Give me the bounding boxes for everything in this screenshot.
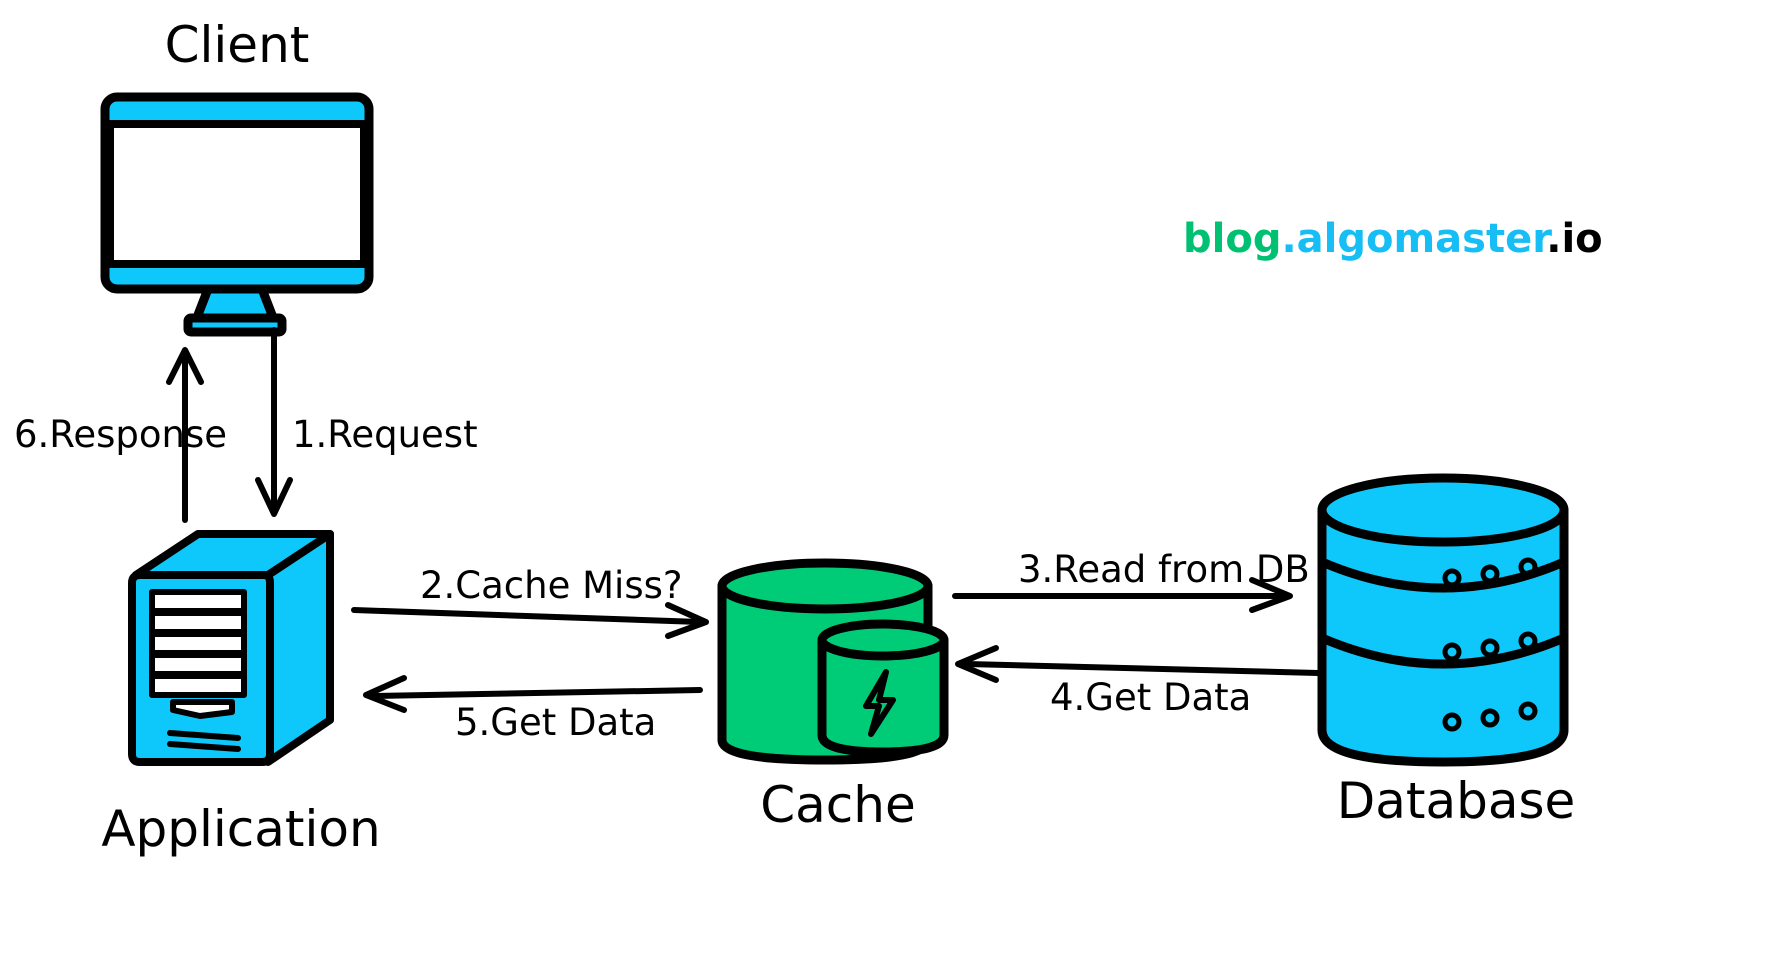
- edge-response: 6.Response: [14, 350, 227, 520]
- database-icon: [1322, 478, 1564, 762]
- edge-label-cache-miss: 2.Cache Miss?: [420, 564, 683, 607]
- edge-request: 1.Request: [258, 330, 478, 514]
- cache-aside-diagram: Client 6.Response 1.Request: [0, 0, 1774, 978]
- database-top: [1322, 478, 1564, 542]
- watermark-part-blog: blog: [1183, 216, 1281, 262]
- cache-cylinder-small-top: [822, 624, 944, 656]
- edge-get-data-cache: 5.Get Data: [366, 678, 700, 744]
- cachemiss-arrow-line: [354, 610, 700, 622]
- getdata-cache-arrow-line: [375, 690, 700, 696]
- edge-label-get-data-db: 4.Get Data: [1050, 676, 1251, 719]
- cache-node[interactable]: Cache: [722, 563, 944, 834]
- server-bay-5: [152, 676, 244, 695]
- cache-label: Cache: [760, 776, 916, 834]
- edge-label-response: 6.Response: [14, 413, 227, 456]
- watermark-dot-1: .: [1281, 216, 1296, 262]
- edge-label-request: 1.Request: [292, 413, 478, 456]
- watermark-dot-2: .: [1546, 216, 1561, 262]
- diagram-canvas: Client 6.Response 1.Request: [0, 0, 1774, 978]
- server-bay-3: [152, 634, 244, 653]
- watermark-part-io: io: [1561, 216, 1602, 262]
- edge-cache-miss: 2.Cache Miss?: [354, 564, 706, 636]
- watermark-part-algomaster: algomaster: [1297, 216, 1553, 262]
- client-node[interactable]: Client: [105, 16, 369, 332]
- cache-cylinder-large-top: [722, 563, 928, 609]
- server-tray: [173, 702, 232, 716]
- watermark: blog.algomaster.io: [1183, 216, 1603, 262]
- server-icon: [132, 534, 330, 762]
- monitor-icon: [105, 97, 369, 332]
- monitor-base: [188, 318, 282, 332]
- database-node[interactable]: Database: [1322, 478, 1575, 830]
- getdatadb-arrow-line: [967, 664, 1318, 673]
- application-node[interactable]: Application: [101, 534, 380, 858]
- server-bay-2: [152, 613, 244, 632]
- database-label: Database: [1337, 772, 1576, 830]
- application-label: Application: [101, 800, 380, 858]
- watermark-text: blog.algomaster.io: [1183, 216, 1603, 262]
- server-bay-1: [152, 592, 244, 611]
- edge-read-from-db: 3.Read from DB: [955, 548, 1310, 610]
- cylinder-bolt-icon: [722, 563, 944, 760]
- client-label: Client: [165, 16, 310, 74]
- edge-label-read-from-db: 3.Read from DB: [1018, 548, 1310, 591]
- edge-label-get-data-cache: 5.Get Data: [455, 701, 656, 744]
- server-bay-4: [152, 655, 244, 674]
- edge-get-data-db: 4.Get Data: [958, 648, 1318, 719]
- monitor-screen: [110, 124, 364, 264]
